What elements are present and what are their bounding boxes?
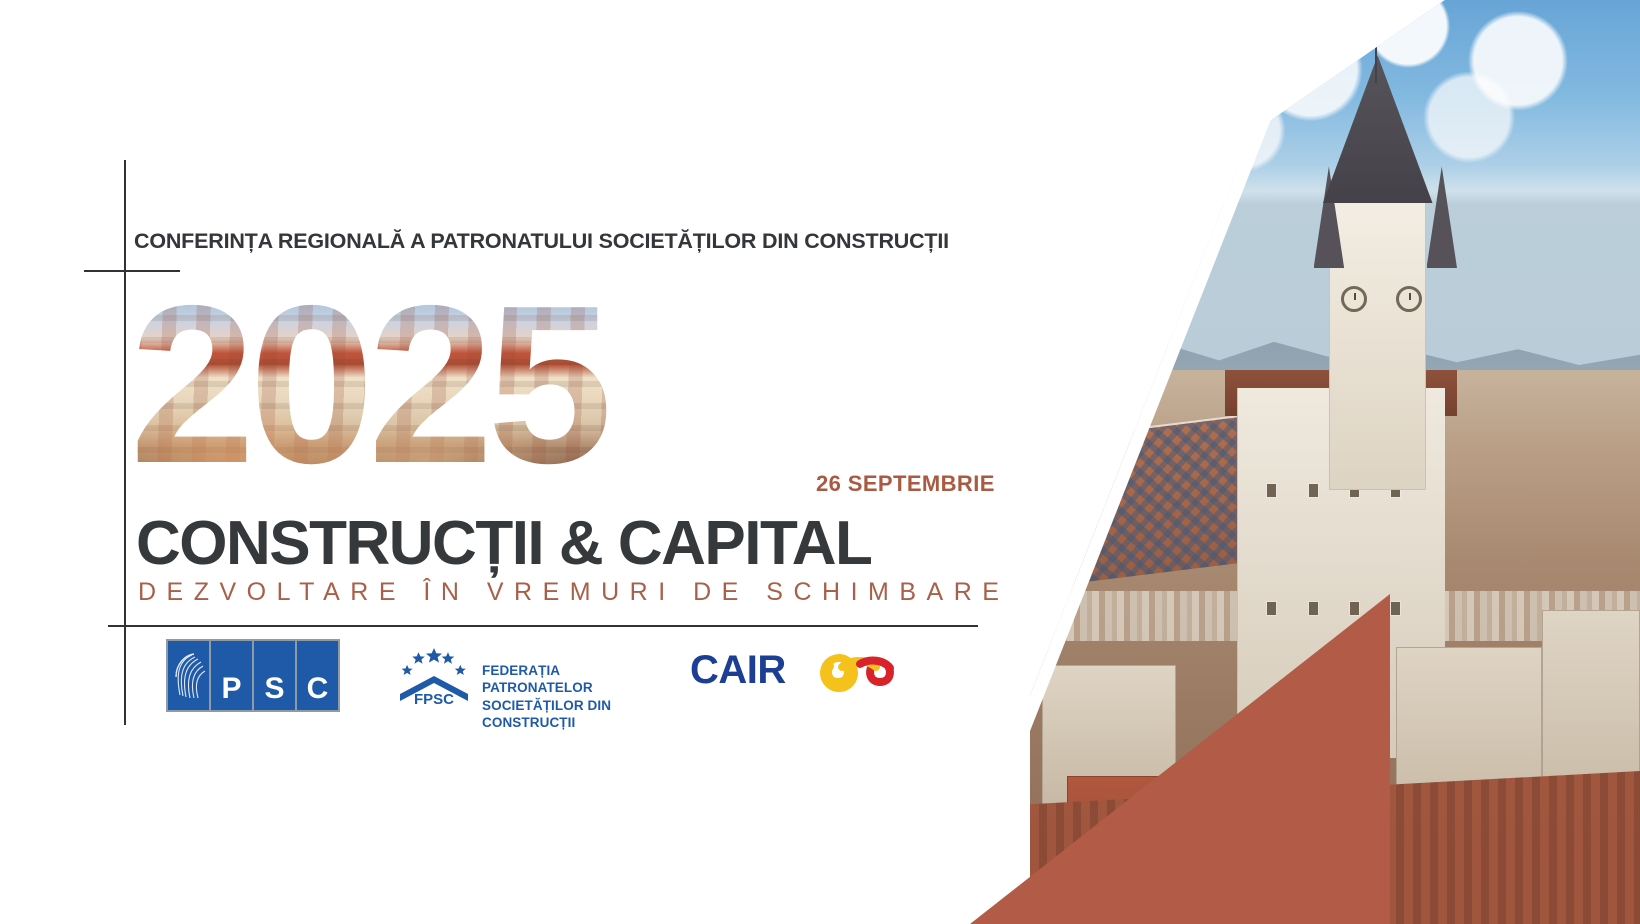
page-title: CONSTRUCȚII & CAPITAL (136, 508, 871, 579)
fpsc-emblem-icon: FPSC (390, 644, 478, 706)
bottom-horizontal-rule (108, 625, 978, 627)
psc-letter-c: C (297, 641, 338, 710)
logo-fpsc-federation[interactable]: FPSC FEDERAȚIA PATRONATELOR SOCIETĂȚILOR… (390, 640, 660, 708)
poster-content: CONFERINȚA REGIONALĂ A PATRONATULUI SOCI… (0, 0, 1110, 924)
cair-infinity-icon (820, 654, 898, 692)
year-headline: 2025 (130, 272, 607, 497)
svg-text:FPSC: FPSC (414, 691, 454, 706)
psc-letter-p: P (211, 641, 252, 710)
logo-psc[interactable]: P S C (166, 639, 340, 712)
fpsc-line-2: SOCIETĂȚILOR DIN CONSTRUCȚII (482, 697, 660, 732)
event-date: 26 SEPTEMBRIE (816, 471, 995, 497)
cair-wordmark: CAIR (690, 648, 786, 693)
logo-cair[interactable]: CAIR (690, 648, 905, 700)
fpsc-federation-wordmark: FEDERAȚIA PATRONATELOR SOCIETĂȚILOR DIN … (482, 662, 660, 731)
vertical-rule (124, 160, 126, 725)
psc-fan-icon (168, 641, 209, 710)
conference-kicker: CONFERINȚA REGIONALĂ A PATRONATULUI SOCI… (134, 229, 949, 254)
fpsc-line-1: FEDERAȚIA PATRONATELOR (482, 662, 660, 697)
event-poster: CONFERINȚA REGIONALĂ A PATRONATULUI SOCI… (0, 0, 1640, 924)
poster-tagline: DEZVOLTARE ÎN VREMURI DE SCHIMBARE (138, 578, 1009, 607)
psc-letter-s: S (254, 641, 295, 710)
logo-row: P S C FPSC (160, 636, 920, 716)
